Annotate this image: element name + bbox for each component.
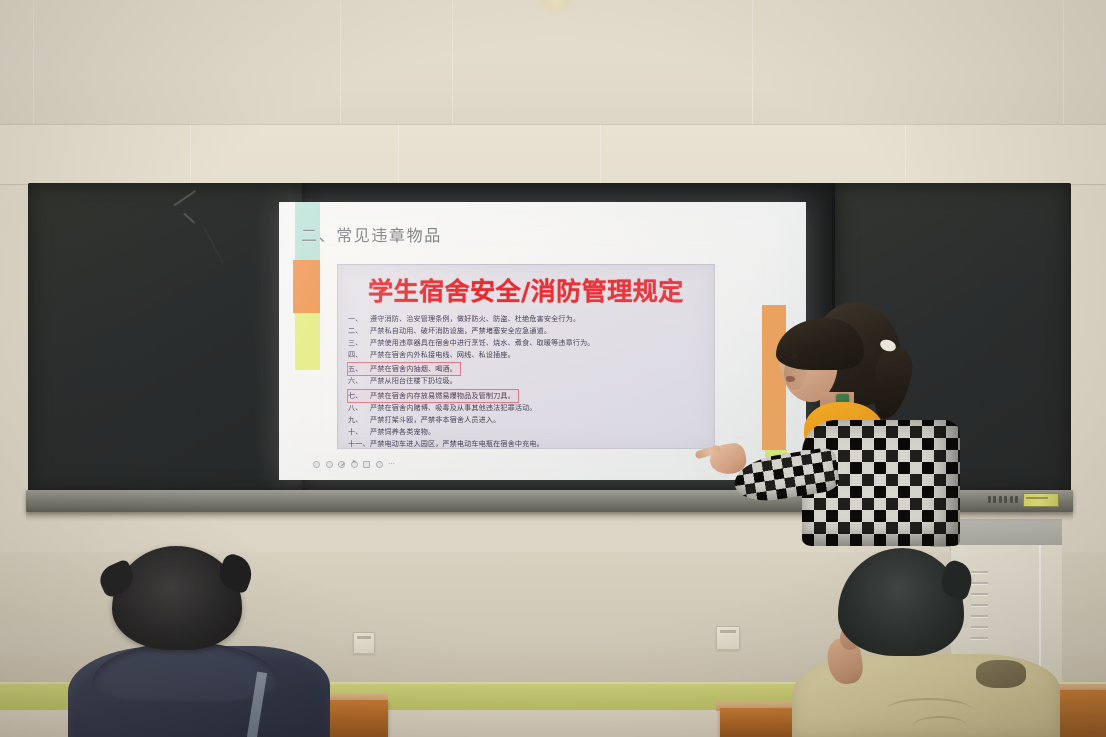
rule-text: 严禁私自动用、破坏消防设施，严禁堵塞安全应急通道。: [370, 326, 551, 335]
poster-rule-row: 四、严禁在宿舍内外私接电线、网线、私设插座。: [348, 349, 706, 361]
wall-seam: [905, 124, 906, 184]
student-hair: [112, 546, 242, 650]
chalk-mark: [184, 213, 195, 223]
rule-number: 八、: [348, 402, 370, 414]
chalk-mark: [204, 227, 224, 263]
wall-middle: [0, 124, 1106, 184]
rule-text: 严禁从阳台往楼下扔垃圾。: [370, 376, 457, 385]
rule-number: 四、: [348, 349, 370, 361]
rule-number: 五、: [348, 363, 370, 375]
rule-number: 二、: [348, 325, 370, 337]
rule-number: 七、: [348, 390, 370, 402]
wall-seam: [752, 0, 753, 124]
slide-toolbar[interactable]: ⋯: [313, 461, 395, 468]
rule-text: 严禁在宿舍内赌博、吸毒及从事其他违法犯罪活动。: [370, 403, 537, 412]
circle-icon[interactable]: [376, 461, 383, 468]
slide-deco-bar-lime-left: [295, 313, 320, 370]
poster-rule-row: 六、严禁从阳台往楼下扔垃圾。: [348, 375, 706, 387]
more-dots-icon[interactable]: ⋯: [388, 461, 395, 468]
rule-number: 九、: [348, 414, 370, 426]
poster-rule-row: 一、遵守消防、治安管理条例，做好防火、防盗、杜绝危害安全行为。: [348, 313, 706, 325]
rule-number: 十一、: [348, 438, 370, 449]
student-navy-hoodie: [76, 546, 326, 737]
wall-seam: [190, 124, 191, 184]
wall-seam: [33, 0, 34, 124]
circle-icon[interactable]: [326, 461, 333, 468]
rect-icon[interactable]: [363, 461, 370, 468]
wall-seam: [600, 124, 601, 184]
pen-icon[interactable]: [338, 461, 345, 468]
blackboard-left-panel[interactable]: [28, 183, 305, 495]
student-khaki-jacket: [798, 548, 1060, 737]
poster-rule-row: 三、严禁使用违章器具在宿舍中进行烹饪、烧水、煮食、取暖等违章行为。: [348, 337, 706, 349]
poster-heading: 学生宿舍安全/消防管理规定: [338, 272, 714, 308]
board-control-buttons[interactable]: [988, 496, 1019, 503]
poster-rule-row: 十、严禁饲养各类宠物。: [348, 426, 706, 438]
wall-outlet-plate[interactable]: [353, 632, 375, 654]
rule-number: 六、: [348, 375, 370, 387]
poster-rule-row: 八、严禁在宿舍内赌博、吸毒及从事其他违法犯罪活动。: [348, 402, 706, 414]
wall-outlet-plate[interactable]: [716, 626, 740, 650]
wall-seam: [340, 0, 341, 124]
rule-number: 十、: [348, 426, 370, 438]
poster-image: 学生宿舍安全/消防管理规定 一、遵守消防、治安管理条例，做好防火、防盗、杜绝危害…: [337, 264, 715, 449]
rule-text: 严禁电动车进入园区，严禁电动车电瓶在宿舍中充电。: [370, 439, 544, 448]
rule-text: 严禁在宿舍内存放易燃易爆物品及管制刀具。: [370, 391, 515, 400]
slide-deco-bar-orange-left: [293, 260, 320, 313]
jacket-fold: [914, 716, 966, 734]
wall-upper: [0, 0, 1106, 124]
rule-number: 三、: [348, 337, 370, 349]
presenter-mouth: [786, 376, 795, 382]
circle-icon[interactable]: [313, 461, 320, 468]
rule-text: 遵守消防、治安管理条例，做好防火、防盗、杜绝危害安全行为。: [370, 314, 580, 323]
poster-rule-row: 十一、严禁电动车进入园区，严禁电动车电瓶在宿舍中充电。: [348, 438, 706, 449]
slide-title: 二、常见违章物品: [301, 222, 442, 246]
classroom-scene: 二、常见违章物品 学生宿舍安全/消防管理规定 一、遵守消防、治安管理条例，做好防…: [0, 0, 1106, 737]
rule-text: 严禁打架斗殴，严禁非本宿舍人员进入。: [370, 415, 500, 424]
rule-number: 一、: [348, 313, 370, 325]
presenter: [724, 296, 960, 546]
poster-rule-row: 九、严禁打架斗殴，严禁非本宿舍人员进入。: [348, 414, 706, 426]
wall-seam: [0, 124, 1106, 125]
wall-seam: [398, 124, 399, 184]
rule-text: 严禁在宿舍内外私接电线、网线、私设插座。: [370, 350, 515, 359]
wall-seam: [452, 0, 453, 124]
rule-text: 严禁饲养各类宠物。: [370, 427, 435, 436]
poster-rule-list: 一、遵守消防、治安管理条例，做好防火、防盗、杜绝危害安全行为。二、严禁私自动用、…: [348, 313, 706, 449]
presenter-bangs: [776, 318, 864, 370]
poster-rule-row-highlighted: 七、严禁在宿舍内存放易燃易爆物品及管制刀具。: [348, 390, 518, 402]
chalk-mark: [174, 191, 196, 207]
poster-rule-row-highlighted: 五、严禁在宿舍内抽烟、喝酒。: [348, 363, 460, 375]
wall-seam: [1063, 0, 1064, 124]
student-shoulder: [976, 660, 1026, 688]
close-icon[interactable]: [351, 461, 358, 468]
rule-text: 严禁在宿舍内抽烟、喝酒。: [370, 364, 457, 373]
student-hair: [838, 548, 964, 656]
rule-text: 严禁使用违章器具在宿舍中进行烹饪、烧水、煮食、取暖等违章行为。: [370, 338, 595, 347]
poster-rule-row: 二、严禁私自动用、破坏消防设施，严禁堵塞安全应急通道。: [348, 325, 706, 337]
board-label-sticker: [1023, 493, 1059, 507]
